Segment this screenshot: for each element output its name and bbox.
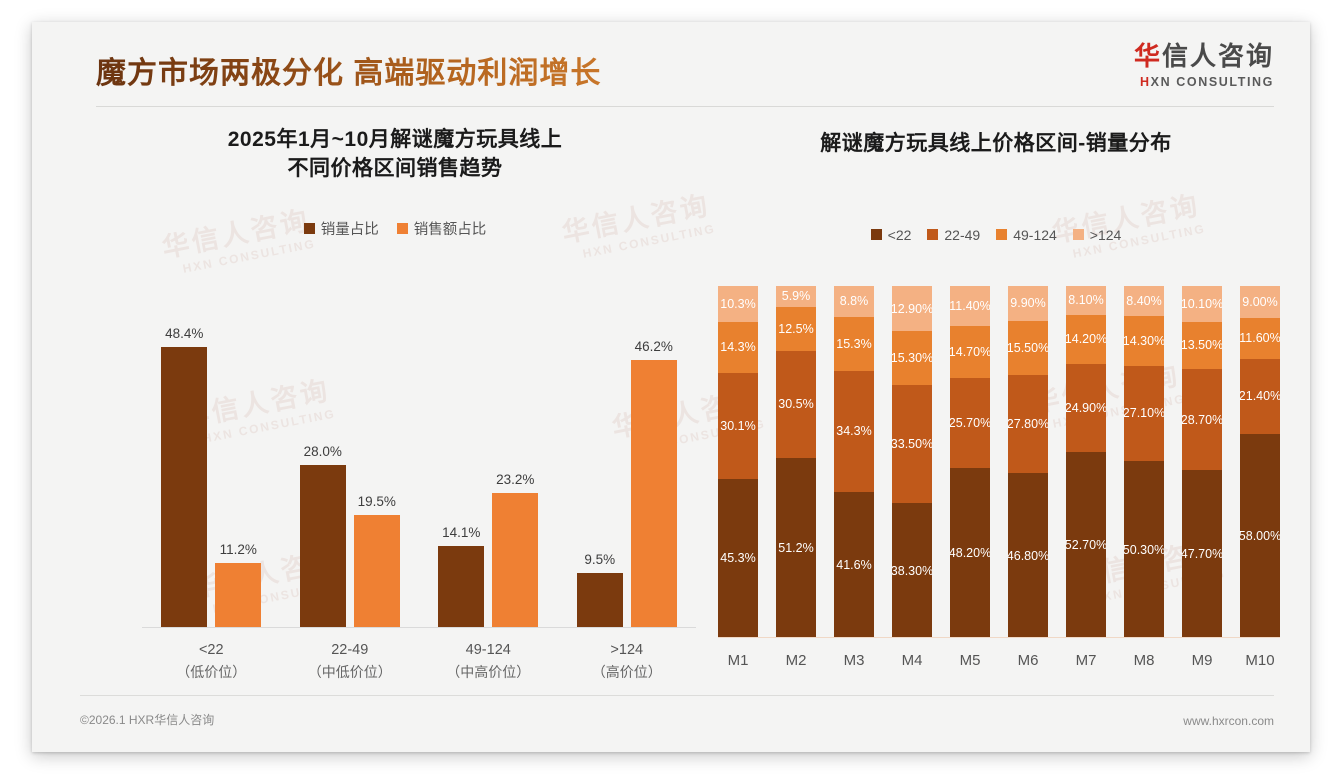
stack-segment[interactable]: 33.50% <box>892 385 932 503</box>
bar-value-label: 14.1% <box>442 525 480 540</box>
segment-value-label: 15.30% <box>892 351 932 365</box>
grouped-bar-chart: 48.4%11.2%28.0%19.5%14.1%23.2%9.5%46.2% … <box>142 326 696 686</box>
stacked-bar[interactable]: 10.3%14.3%30.1%45.3% <box>718 286 758 638</box>
stacked-bar-chart: 10.3%14.3%30.1%45.3%5.9%12.5%30.5%51.2%8… <box>718 286 1280 686</box>
logo-en-rest: XN CONSULTING <box>1151 75 1274 89</box>
segment-value-label: 11.60% <box>1240 331 1280 345</box>
bar-value-label: 28.0% <box>304 444 342 459</box>
bar-group: 9.5%46.2% <box>577 326 677 628</box>
stack-segment[interactable]: 52.70% <box>1066 452 1106 638</box>
stack-segment[interactable]: 30.1% <box>718 373 758 479</box>
bar-column[interactable]: 48.4% <box>161 326 207 628</box>
x-axis-tick-label: M2 <box>776 652 816 669</box>
stack-segment[interactable]: 24.90% <box>1066 364 1106 452</box>
segment-value-label: 30.5% <box>778 397 813 411</box>
stack-segment[interactable]: 34.3% <box>834 371 874 492</box>
x-axis-line <box>718 637 1280 638</box>
stack-segment[interactable]: 11.60% <box>1240 318 1280 359</box>
legend-label: 销售额占比 <box>414 218 487 239</box>
right-chart-panel: 解谜魔方玩具线上价格区间-销量分布 <22 22-49 49-124 >124 … <box>704 126 1288 686</box>
stack-segment[interactable]: 9.90% <box>1008 286 1048 321</box>
x-axis-tick-label: >124（高价位） <box>567 640 687 683</box>
legend-item-22-49[interactable]: 22-49 <box>927 227 980 243</box>
segment-value-label: 50.30% <box>1124 543 1164 557</box>
left-chart-legend: 销量占比 销售额占比 <box>80 218 710 239</box>
segment-value-label: 9.90% <box>1010 296 1045 310</box>
stacked-bar[interactable]: 8.10%14.20%24.90%52.70% <box>1066 286 1106 638</box>
bar-group: 14.1%23.2% <box>438 326 538 628</box>
segment-value-label: 21.40% <box>1240 389 1280 403</box>
segment-value-label: 14.20% <box>1066 332 1106 346</box>
stack-segment[interactable]: 15.3% <box>834 317 874 371</box>
legend-label: 销量占比 <box>321 218 379 239</box>
bar[interactable] <box>300 465 346 628</box>
legend-item-49-124[interactable]: 49-124 <box>996 227 1057 243</box>
segment-value-label: 10.10% <box>1182 297 1222 311</box>
stacked-bar[interactable]: 12.90%15.30%33.50%38.30% <box>892 286 932 638</box>
stack-segment[interactable]: 25.70% <box>950 378 990 468</box>
stack-segment[interactable]: 58.00% <box>1240 434 1280 638</box>
legend-label: 22-49 <box>944 227 980 243</box>
tick-label-main: <22 <box>151 640 271 662</box>
stack-segment[interactable]: 51.2% <box>776 458 816 638</box>
stacked-bar[interactable]: 8.8%15.3%34.3%41.6% <box>834 286 874 638</box>
bar-group: 48.4%11.2% <box>161 326 261 628</box>
x-axis-tick-label: M9 <box>1182 652 1222 669</box>
tick-label-sub: （中低价位） <box>290 662 410 683</box>
bar-value-label: 9.5% <box>584 552 615 567</box>
stack-segment[interactable]: 14.30% <box>1124 316 1164 366</box>
bar[interactable] <box>161 347 207 628</box>
logo-rest-chars: 信人咨询 <box>1162 41 1274 71</box>
bar-value-label: 23.2% <box>496 472 534 487</box>
segment-value-label: 30.1% <box>720 419 755 433</box>
legend-label: >124 <box>1090 227 1122 243</box>
bar-group: 28.0%19.5% <box>300 326 400 628</box>
stack-segment[interactable]: 15.30% <box>892 331 932 385</box>
bar-value-label: 48.4% <box>165 326 203 341</box>
x-axis-tick-label: <22（低价位） <box>151 640 271 683</box>
stack-segment[interactable]: 41.6% <box>834 492 874 638</box>
x-axis-tick-label: M8 <box>1124 652 1164 669</box>
bar-value-label: 11.2% <box>220 542 257 557</box>
bar[interactable] <box>492 493 538 628</box>
segment-value-label: 15.3% <box>836 337 871 351</box>
logo-en-accent: H <box>1140 75 1151 89</box>
stack-segment[interactable]: 38.30% <box>892 503 932 638</box>
stacked-bar-plot-area: 10.3%14.3%30.1%45.3%5.9%12.5%30.5%51.2%8… <box>718 286 1280 638</box>
segment-value-label: 24.90% <box>1066 401 1106 415</box>
grouped-x-axis-labels: <22（低价位）22-49（中低价位）49-124（中高价位）>124（高价位） <box>142 630 696 686</box>
stacked-bar[interactable]: 8.40%14.30%27.10%50.30% <box>1124 286 1164 638</box>
page-title: 魔方市场两极分化 高端驱动利润增长 <box>96 48 601 92</box>
right-chart-title-line1: 解谜魔方玩具线上价格区间-销量分布 <box>704 130 1288 159</box>
stack-segment[interactable]: 27.10% <box>1124 366 1164 461</box>
segment-value-label: 47.70% <box>1182 547 1222 561</box>
stack-segment[interactable]: 14.20% <box>1066 315 1106 365</box>
segment-value-label: 13.50% <box>1182 338 1222 352</box>
segment-value-label: 5.9% <box>782 289 811 303</box>
bar-column[interactable]: 14.1% <box>438 326 484 628</box>
segment-value-label: 9.00% <box>1242 295 1277 309</box>
tick-label-sub: （高价位） <box>567 662 687 683</box>
segment-value-label: 52.70% <box>1066 538 1106 552</box>
stack-segment[interactable]: 50.30% <box>1124 461 1164 638</box>
segment-value-label: 27.80% <box>1008 417 1048 431</box>
stacked-x-axis-labels: M1M2M3M4M5M6M7M8M9M10 <box>718 640 1280 686</box>
segment-value-label: 14.70% <box>950 345 990 359</box>
slide-header: 魔方市场两极分化 高端驱动利润增长 华信人咨询 HXN CONSULTING <box>32 22 1310 110</box>
x-axis-tick-label: M4 <box>892 652 932 669</box>
legend-item-sales-amount[interactable]: 销售额占比 <box>397 218 487 239</box>
slide-canvas: 华信人咨询 HXN CONSULTING 华信人咨询 HXN CONSULTIN… <box>32 22 1310 752</box>
header-divider <box>96 106 1274 107</box>
stack-segment[interactable]: 13.50% <box>1182 322 1222 370</box>
stack-segment[interactable]: 10.3% <box>718 286 758 322</box>
tick-label-main: 22-49 <box>290 640 410 662</box>
segment-value-label: 48.20% <box>950 546 990 560</box>
stack-segment[interactable]: 12.5% <box>776 307 816 351</box>
legend-swatch-icon <box>397 223 408 234</box>
stack-segment[interactable]: 14.3% <box>718 322 758 372</box>
bar-column[interactable]: 46.2% <box>631 326 677 628</box>
bar[interactable] <box>631 360 677 628</box>
stack-segment[interactable]: 48.20% <box>950 468 990 638</box>
legend-swatch-icon <box>927 229 938 240</box>
segment-value-label: 27.10% <box>1124 406 1164 420</box>
x-axis-tick-label: 22-49（中低价位） <box>290 640 410 683</box>
segment-value-label: 51.2% <box>778 541 813 555</box>
x-axis-tick-label: 49-124（中高价位） <box>428 640 548 683</box>
stack-segment[interactable]: 5.9% <box>776 286 816 307</box>
stacked-bar[interactable]: 9.90%15.50%27.80%46.80% <box>1008 286 1048 638</box>
x-axis-tick-label: M6 <box>1008 652 1048 669</box>
legend-label: <22 <box>888 227 912 243</box>
stack-segment[interactable]: 14.70% <box>950 326 990 378</box>
tick-label-main: >124 <box>567 640 687 662</box>
stack-segment[interactable]: 28.70% <box>1182 369 1222 470</box>
bar-column[interactable]: 23.2% <box>492 326 538 628</box>
stack-segment[interactable]: 8.8% <box>834 286 874 317</box>
legend-item-sales-volume[interactable]: 销量占比 <box>304 218 379 239</box>
segment-value-label: 38.30% <box>892 564 932 578</box>
stack-segment[interactable]: 27.80% <box>1008 375 1048 473</box>
right-chart-legend: <22 22-49 49-124 >124 <box>704 227 1288 243</box>
segment-value-label: 11.40% <box>950 299 990 313</box>
stacked-bar[interactable]: 5.9%12.5%30.5%51.2% <box>776 286 816 638</box>
bar-column[interactable]: 19.5% <box>354 326 400 628</box>
segment-value-label: 25.70% <box>950 416 990 430</box>
stack-segment[interactable]: 30.5% <box>776 351 816 458</box>
segment-value-label: 33.50% <box>892 437 932 451</box>
stack-segment[interactable]: 9.00% <box>1240 286 1280 318</box>
segment-value-label: 15.50% <box>1008 341 1048 355</box>
bar-column[interactable]: 9.5% <box>577 326 623 628</box>
legend-swatch-icon <box>996 229 1007 240</box>
logo-english-text: HXN CONSULTING <box>1134 75 1274 89</box>
tick-label-main: 49-124 <box>428 640 548 662</box>
segment-value-label: 14.3% <box>720 340 755 354</box>
tick-label-sub: （中高价位） <box>428 662 548 683</box>
x-axis-tick-label: M10 <box>1240 652 1280 669</box>
segment-value-label: 8.40% <box>1126 294 1161 308</box>
segment-value-label: 45.3% <box>720 551 755 565</box>
right-chart-title: 解谜魔方玩具线上价格区间-销量分布 <box>704 126 1288 159</box>
bar[interactable] <box>354 515 400 628</box>
stack-segment[interactable]: 12.90% <box>892 286 932 331</box>
left-chart-title-line1: 2025年1月~10月解谜魔方玩具线上 <box>80 126 710 155</box>
stack-segment[interactable]: 47.70% <box>1182 470 1222 638</box>
x-axis-tick-label: M1 <box>718 652 758 669</box>
left-chart-title: 2025年1月~10月解谜魔方玩具线上 不同价格区间销售趋势 <box>80 126 710 184</box>
left-chart-title-line2: 不同价格区间销售趋势 <box>80 155 710 184</box>
segment-value-label: 8.8% <box>840 294 869 308</box>
bar-column[interactable]: 11.2% <box>215 326 261 628</box>
stacked-bar[interactable]: 10.10%13.50%28.70%47.70% <box>1182 286 1222 638</box>
segment-value-label: 34.3% <box>836 424 871 438</box>
legend-label: 49-124 <box>1013 227 1057 243</box>
segment-value-label: 14.30% <box>1124 334 1164 348</box>
stack-segment[interactable]: 11.40% <box>950 286 990 326</box>
stack-segment[interactable]: 46.80% <box>1008 473 1048 638</box>
segment-value-label: 28.70% <box>1182 413 1222 427</box>
bar-value-label: 46.2% <box>635 339 673 354</box>
x-axis-tick-label: M3 <box>834 652 874 669</box>
footer-divider <box>80 695 1274 696</box>
footer-copyright: ©2026.1 HXR华信人咨询 <box>80 711 214 728</box>
company-logo: 华信人咨询 HXN CONSULTING <box>1134 42 1274 89</box>
x-axis-tick-label: M5 <box>950 652 990 669</box>
segment-value-label: 10.3% <box>720 297 755 311</box>
segment-value-label: 41.6% <box>836 558 871 572</box>
segment-value-label: 12.5% <box>778 322 813 336</box>
footer-website[interactable]: www.hxrcon.com <box>1183 714 1274 728</box>
segment-value-label: 12.90% <box>892 302 932 316</box>
stacked-bar[interactable]: 11.40%14.70%25.70%48.20% <box>950 286 990 638</box>
segment-value-label: 46.80% <box>1008 549 1048 563</box>
legend-item-over-124[interactable]: >124 <box>1073 227 1122 243</box>
stack-segment[interactable]: 45.3% <box>718 479 758 638</box>
bar-value-label: 19.5% <box>358 494 396 509</box>
stack-segment[interactable]: 10.10% <box>1182 286 1222 322</box>
stack-segment[interactable]: 8.40% <box>1124 286 1164 316</box>
tick-label-sub: （低价位） <box>151 662 271 683</box>
x-axis-tick-label: M7 <box>1066 652 1106 669</box>
legend-swatch-icon <box>304 223 315 234</box>
legend-item-under-22[interactable]: <22 <box>871 227 912 243</box>
stacked-bar[interactable]: 9.00%11.60%21.40%58.00% <box>1240 286 1280 638</box>
left-chart-panel: 2025年1月~10月解谜魔方玩具线上 不同价格区间销售趋势 销量占比 销售额占… <box>80 126 710 686</box>
logo-accent-char: 华 <box>1134 41 1162 71</box>
bar[interactable] <box>577 573 623 628</box>
stack-segment[interactable]: 21.40% <box>1240 359 1280 434</box>
stack-segment[interactable]: 15.50% <box>1008 321 1048 376</box>
stack-segment[interactable]: 8.10% <box>1066 286 1106 315</box>
bar[interactable] <box>215 563 261 628</box>
bar[interactable] <box>438 546 484 628</box>
grouped-bar-plot-area: 48.4%11.2%28.0%19.5%14.1%23.2%9.5%46.2% <box>142 326 696 628</box>
segment-value-label: 58.00% <box>1240 529 1280 543</box>
segment-value-label: 8.10% <box>1068 293 1103 307</box>
legend-swatch-icon <box>1073 229 1084 240</box>
legend-swatch-icon <box>871 229 882 240</box>
bar-column[interactable]: 28.0% <box>300 326 346 628</box>
logo-chinese-text: 华信人咨询 <box>1134 42 1274 71</box>
x-axis-line <box>142 627 696 628</box>
